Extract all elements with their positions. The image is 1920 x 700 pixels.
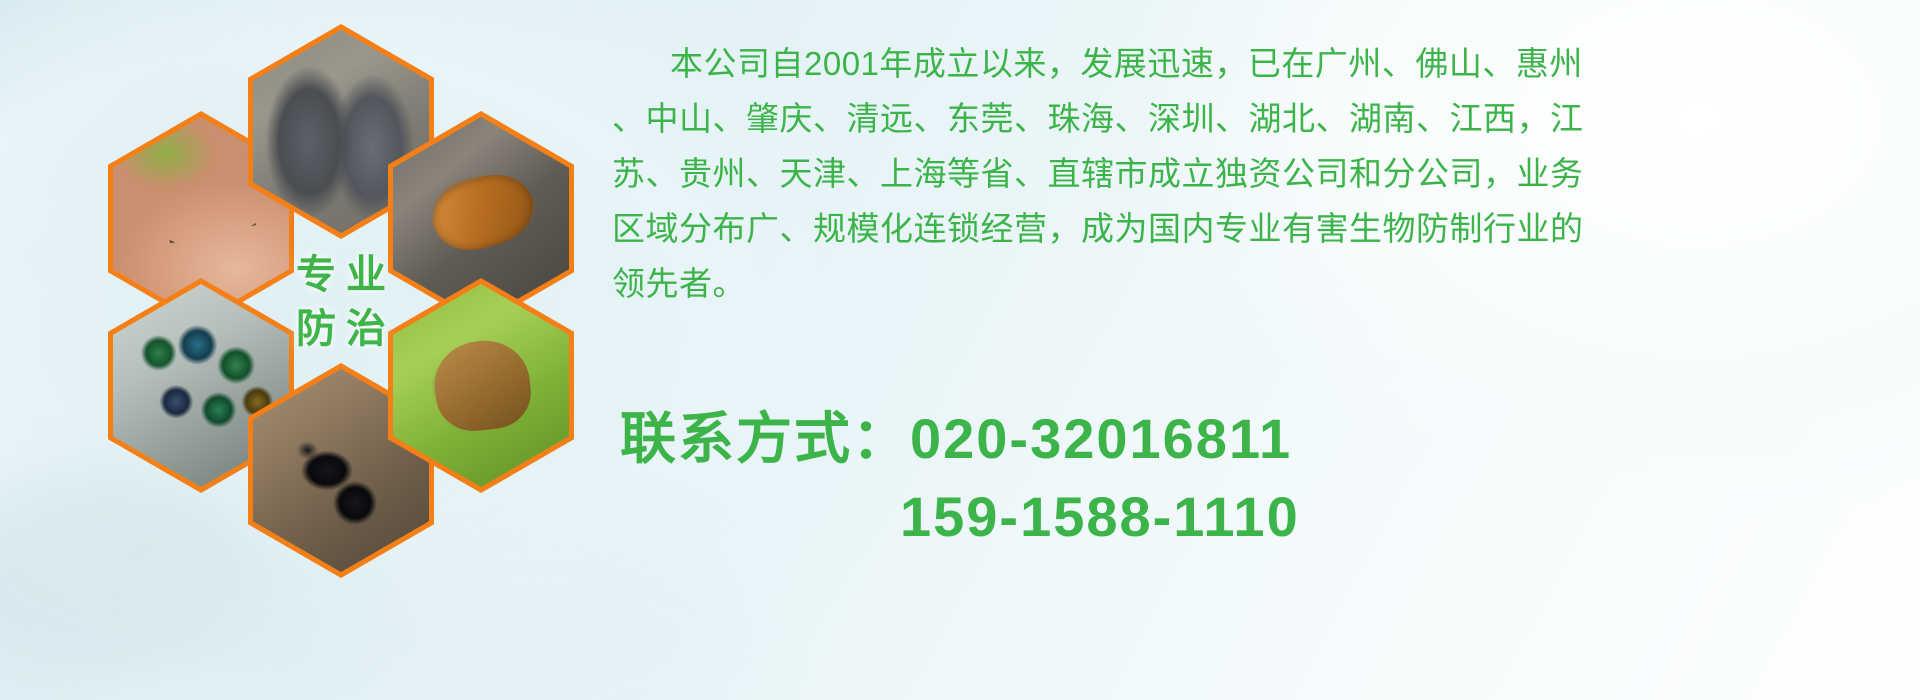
intro-paragraph: 本公司自2001年成立以来，发展迅速，已在广州、佛山、惠州 、中山、肇庆、清远、…	[612, 36, 1912, 311]
honeycomb-collage: 专业 防治	[88, 6, 588, 566]
intro-line-3: 苏、贵州、天津、上海等省、直辖市成立独资公司和分公司，业务	[612, 146, 1912, 201]
intro-line-4: 区域分布广、规模化连锁经营，成为国内专业有害生物防制行业的	[612, 201, 1912, 256]
contact-primary-line: 联系方式：020-32016811	[620, 400, 1870, 478]
contact-phone-primary[interactable]: 020-32016811	[910, 407, 1292, 470]
honeycomb-label-line-1: 专业	[286, 255, 396, 295]
intro-line-1-text: 本公司自2001年成立以来，发展迅速，已在广州、佛山、惠州	[670, 45, 1583, 82]
contact-phone-secondary[interactable]: 159-1588-1110	[900, 478, 1870, 556]
contact-label: 联系方式：	[620, 407, 910, 470]
honeycomb-center-label: 专业 防治	[248, 194, 434, 409]
promo-banner: 专业 防治 本公司自2001年成立以来，发展迅速，已在广州、佛山、惠州 、中山、…	[0, 0, 1920, 700]
intro-line-5: 领先者。	[612, 256, 1912, 311]
intro-line-1: 本公司自2001年成立以来，发展迅速，已在广州、佛山、惠州	[612, 36, 1912, 91]
intro-line-2: 、中山、肇庆、清远、东莞、珠海、深圳、湖北、湖南、江西，江	[612, 91, 1912, 146]
honeycomb-label-line-2: 防治	[286, 309, 396, 349]
contact-block: 联系方式：020-32016811 159-1588-1110	[620, 400, 1870, 556]
